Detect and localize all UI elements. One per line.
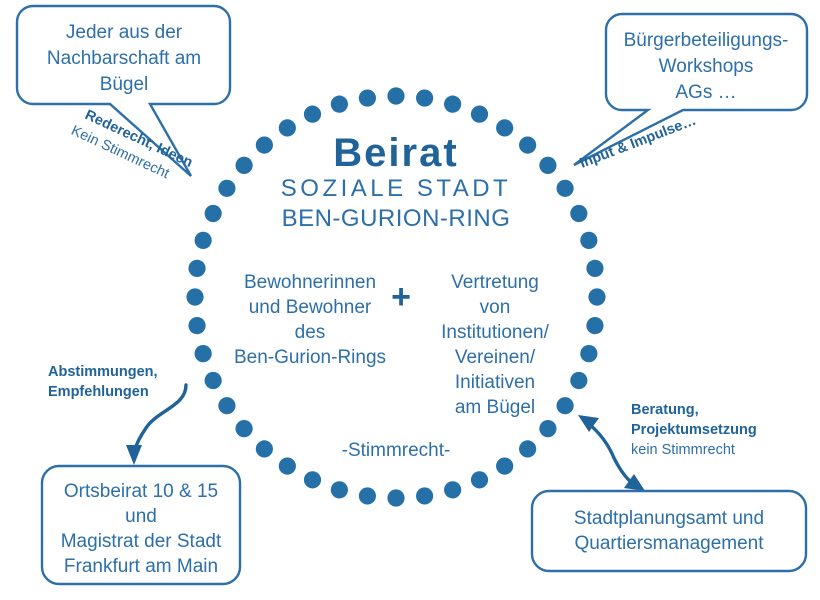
- bubble-neighbourhood-line-3: Bügel: [100, 74, 149, 95]
- ring-dot: [304, 106, 321, 123]
- left-group-line-4: Ben-Gurion-Rings: [234, 347, 386, 368]
- ring-dot: [416, 487, 433, 504]
- ring-dot: [218, 180, 235, 197]
- center-title: Beirat: [333, 131, 458, 175]
- organigram-svg: Beirat SOZIALE STADT BEN-GURION-RING Bew…: [0, 0, 820, 600]
- ring-dot: [471, 106, 488, 123]
- left-group-line-1: Bewohnerinnen: [244, 272, 376, 293]
- right-group-line-3: Institutionen/: [441, 322, 549, 343]
- box-ortsbeirat-line-2: und: [125, 506, 157, 527]
- ring-dot: [580, 345, 597, 362]
- ring-dot: [556, 180, 573, 197]
- right-group-line-1: Vertretung: [451, 272, 539, 293]
- ring-dot: [471, 471, 488, 488]
- right-group-line-6: am Bügel: [455, 397, 535, 418]
- annotation-bottom-left: Abstimmungen, Empfehlungen: [48, 364, 158, 400]
- right-group-line-4: Vereinen/: [455, 347, 536, 368]
- ring-dot: [586, 260, 603, 277]
- box-ortsbeirat-line-4: Frankfurt am Main: [64, 556, 218, 577]
- arrowhead-down: [126, 445, 142, 465]
- ring-dot: [235, 157, 252, 174]
- annotation-bottom-right-line-1: Beratung,: [631, 402, 699, 418]
- ring-dot: [588, 288, 605, 305]
- ring-dot: [304, 471, 321, 488]
- ring-dot: [331, 481, 348, 498]
- ring-dot: [539, 157, 556, 174]
- ring-dot: [539, 420, 556, 437]
- box-stadtplanungsamt-line-2: Quartiersmanagement: [574, 533, 764, 554]
- ring-dot: [218, 397, 235, 414]
- bubble-neighbourhood-line-1: Jeder aus der: [66, 22, 183, 43]
- ring-dot: [570, 372, 587, 389]
- ring-dot: [188, 317, 205, 334]
- ring-dot: [205, 205, 222, 222]
- ring-dot: [387, 489, 404, 506]
- ring-dot: [556, 397, 573, 414]
- bubble-participation-line-1: Bürgerbeteiligungs-: [624, 30, 789, 51]
- ring-dot: [279, 457, 296, 474]
- box-ortsbeirat[interactable]: Ortsbeirat 10 & 15 und Magistrat der Sta…: [42, 466, 240, 584]
- bubble-participation-line-3: AGs …: [675, 82, 736, 103]
- ring-dot: [256, 440, 273, 457]
- ring-dot: [195, 345, 212, 362]
- plus-icon: +: [391, 278, 411, 316]
- bubble-neighbourhood-line-2: Nachbarschaft am: [47, 48, 201, 69]
- ring-dot: [188, 260, 205, 277]
- left-group-line-2: und Bewohner: [249, 297, 372, 318]
- ring-dot: [416, 89, 433, 106]
- ring-dot: [570, 205, 587, 222]
- annotation-bottom-left-line-1: Abstimmungen,: [48, 364, 158, 380]
- ring-dot: [359, 89, 376, 106]
- ring-dot: [580, 232, 597, 249]
- left-group-line-3: des: [295, 322, 326, 343]
- annotation-bottom-right-line-2: Projektumsetzung: [631, 422, 757, 438]
- ring-dot: [496, 119, 513, 136]
- ring-dot: [359, 487, 376, 504]
- center-left-group: Bewohnerinnen und Bewohner des Ben-Gurio…: [234, 272, 386, 368]
- annotation-bottom-right-line-3: kein Stimmrecht: [631, 442, 735, 458]
- right-group-line-5: Initiativen: [455, 372, 535, 393]
- bubble-participation[interactable]: Bürgerbeteiligungs- Workshops AGs …: [574, 14, 807, 165]
- annotation-bottom-right: Beratung, Projektumsetzung kein Stimmrec…: [631, 402, 757, 458]
- center-subtitle-1: SOZIALE STADT: [281, 175, 511, 202]
- ring-dot: [387, 87, 404, 104]
- ring-dot: [519, 136, 536, 153]
- ring-dot: [444, 481, 461, 498]
- annotation-top-right-bold: Input & Impulse…: [578, 113, 699, 172]
- box-ortsbeirat-line-3: Magistrat der Stadt: [61, 531, 222, 552]
- voting-note: -Stimmrecht-: [342, 440, 451, 461]
- bubble-participation-line-2: Workshops: [659, 56, 754, 77]
- box-stadtplanungsamt-line-1: Stadtplanungsamt und: [574, 508, 764, 529]
- annotation-bottom-left-line-2: Empfehlungen: [48, 384, 149, 400]
- diagram-canvas: Beirat SOZIALE STADT BEN-GURION-RING Bew…: [0, 0, 820, 600]
- annotation-top-right: Input & Impulse…: [578, 113, 699, 172]
- ring-dot: [279, 119, 296, 136]
- ring-dot: [195, 232, 212, 249]
- box-stadtplanungsamt[interactable]: Stadtplanungsamt und Quartiersmanagement: [532, 491, 806, 571]
- ring-dot: [444, 96, 461, 113]
- box-stadtplanungsamt-shape: [532, 491, 806, 571]
- ring-dot: [235, 420, 252, 437]
- annotation-top-left: Rederecht, Ideen Kein Stimmrecht: [68, 105, 195, 190]
- ring-dot: [256, 136, 273, 153]
- center-right-group: Vertretung von Institutionen/ Vereinen/ …: [441, 272, 549, 418]
- ring-dot: [186, 288, 203, 305]
- right-group-line-2: von: [480, 297, 511, 318]
- ring-dot: [496, 457, 513, 474]
- ring-dot: [519, 440, 536, 457]
- ring-dot: [586, 317, 603, 334]
- ring-dot: [331, 96, 348, 113]
- box-ortsbeirat-line-1: Ortsbeirat 10 & 15: [64, 481, 218, 502]
- ring-dot: [205, 372, 222, 389]
- center-subtitle-2: BEN-GURION-RING: [282, 205, 511, 232]
- center-label-group: Beirat SOZIALE STADT BEN-GURION-RING: [281, 131, 511, 232]
